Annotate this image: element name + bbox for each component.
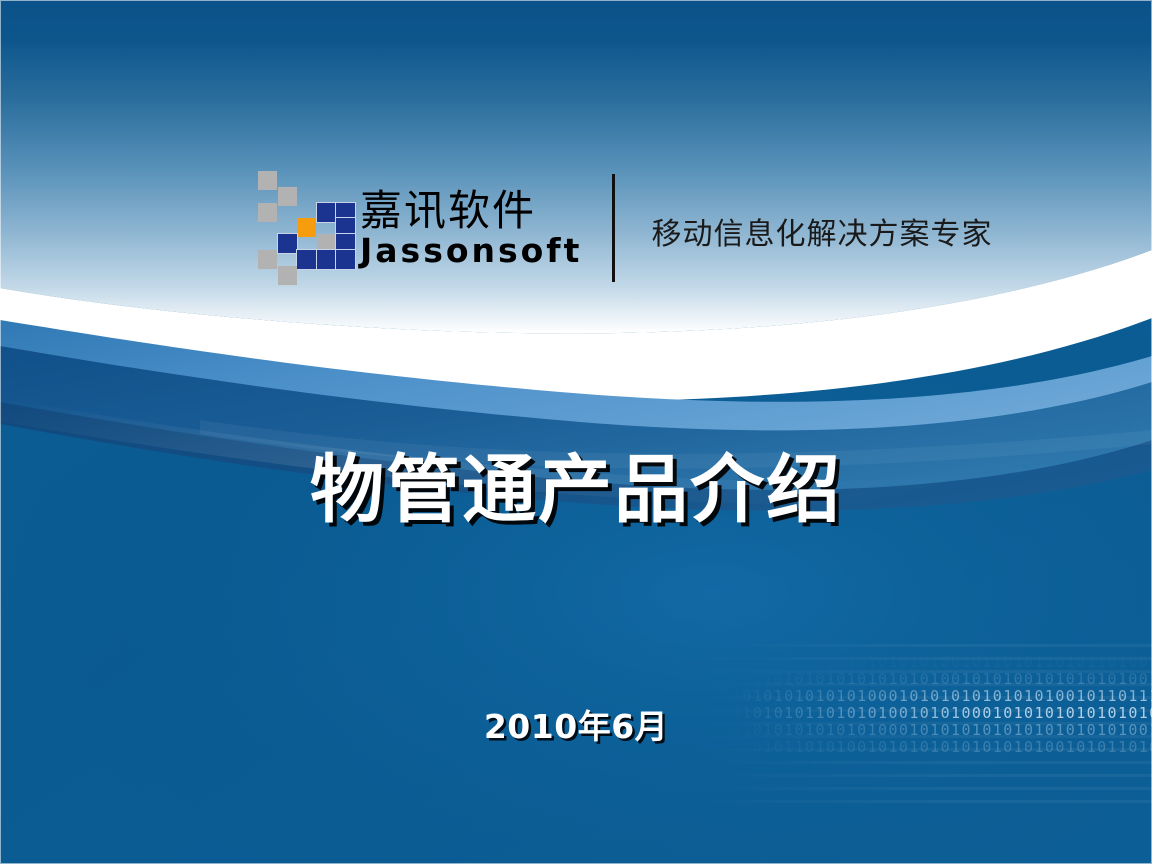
logo-square-navy [336, 250, 355, 269]
logo-square-gray [258, 171, 277, 190]
logo-square-gray [258, 250, 277, 269]
jassonsoft-pixel-mark-icon [258, 171, 354, 285]
logo-square-gray [258, 203, 277, 222]
logo-square-navy [297, 250, 316, 269]
slide-title: 物管通产品介绍 [0, 430, 1152, 537]
logo-square-gray [278, 187, 297, 206]
logo-wordmark: 嘉讯软件 Jassonsoft [360, 190, 582, 267]
slide-date: 2010年6月 [0, 700, 1152, 748]
logo-square-gold [297, 218, 316, 237]
logo-square-navy [317, 203, 336, 222]
brand-name-cn: 嘉讯软件 [360, 190, 582, 232]
presentation-slide: 1011010101010101010100101101011010110100… [0, 0, 1152, 864]
logo-square-navy [278, 234, 297, 253]
logo-divider [612, 174, 615, 282]
logo-square-gray [278, 266, 297, 285]
logo-square-navy [317, 250, 336, 269]
company-logo-lockup: 嘉讯软件 Jassonsoft 移动信息化解决方案专家 [258, 166, 992, 290]
company-tagline: 移动信息化解决方案专家 [651, 209, 992, 253]
brand-name-en: Jassonsoft [360, 234, 582, 267]
